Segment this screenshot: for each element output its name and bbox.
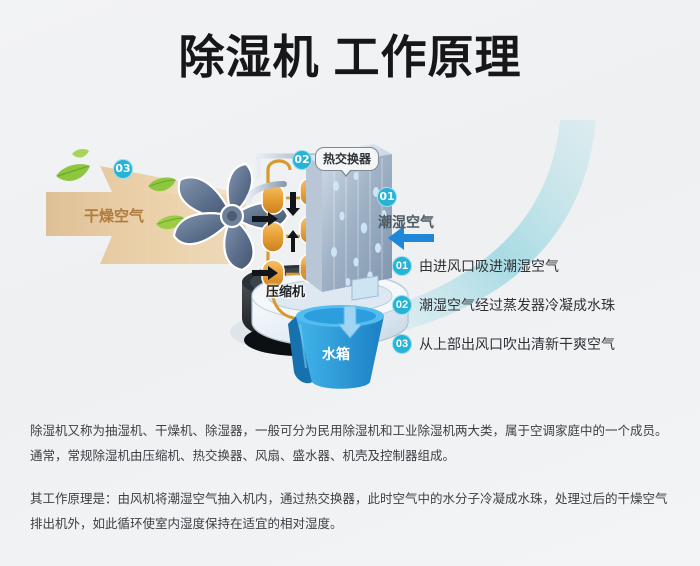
paragraph-2: 其工作原理是：由风机将潮湿空气抽入机内，通过热交换器，此时空气中的水分子冷凝成水…	[30, 486, 675, 536]
poster-canvas: 除湿机工作原理	[0, 0, 700, 566]
heat-exchanger-callout: 热交换器	[315, 147, 379, 171]
page-title-part2: 工作原理	[334, 30, 522, 84]
page-title: 除湿机工作原理	[0, 32, 700, 83]
legend-item-01: 01 由进风口吸进潮湿空气	[392, 256, 692, 276]
heat-exchanger-label: 热交换器	[315, 147, 379, 171]
paragraph-1: 除湿机又称为抽湿机、干燥机、除湿器，一般可分为民用除湿机和工业除湿机两大类，属于…	[30, 418, 675, 468]
legend-list: 01 由进风口吸进潮湿空气 02 潮湿空气经过蒸发器冷凝成水珠 03 从上部出风…	[392, 256, 692, 373]
humid-air-badge: 01	[377, 186, 397, 207]
paragraph-1-line-1: 除湿机又称为抽湿机、干燥机、除湿器，一般可分为民用除湿机和工业除湿机两大类，属于…	[30, 423, 668, 438]
badge-03-diagram: 03	[113, 159, 133, 179]
water-tank-label: 水箱	[322, 344, 350, 364]
dry-air-label: 干燥空气	[84, 205, 144, 226]
humid-air-label: 潮湿空气	[378, 212, 434, 232]
legend-text-03: 从上部出风口吹出清新干爽空气	[419, 334, 615, 354]
air-outlet-vent	[352, 276, 378, 300]
badge-02-diagram: 02	[292, 150, 312, 170]
legend-text-01: 由进风口吸进潮湿空气	[419, 256, 559, 276]
heat-exchanger-badge: 02	[292, 149, 312, 170]
legend-badge-02: 02	[392, 295, 412, 315]
page-title-text: 除湿机工作原理	[179, 32, 522, 83]
compressor-label: 压缩机	[266, 281, 305, 300]
legend-text-02: 潮湿空气经过蒸发器冷凝成水珠	[419, 295, 615, 315]
badge-01-diagram: 01	[377, 187, 397, 207]
page-title-part1: 除湿机	[179, 30, 320, 84]
paragraph-1-line-2: 通常，常规除湿机由压缩机、热交换器、风扇、盛水器、机壳及控制器组成。	[30, 448, 455, 463]
dry-air-badge: 03	[113, 158, 133, 179]
paragraph-2-line-1: 其工作原理是：由风机将潮湿空气抽入机内，通过热交换器，此时空气中的水分子冷凝成水…	[30, 491, 668, 506]
legend-item-03: 03 从上部出风口吹出清新干爽空气	[392, 334, 692, 354]
body-copy: 除湿机又称为抽湿机、干燥机、除湿器，一般可分为民用除湿机和工业除湿机两大类，属于…	[30, 418, 675, 536]
legend-item-02: 02 潮湿空气经过蒸发器冷凝成水珠	[392, 295, 692, 315]
legend-badge-03: 03	[392, 334, 412, 354]
legend-badge-01: 01	[392, 256, 412, 276]
paragraph-2-line-2: 排出机外，如此循环使室内湿度保持在适宜的相对湿度。	[30, 516, 343, 531]
